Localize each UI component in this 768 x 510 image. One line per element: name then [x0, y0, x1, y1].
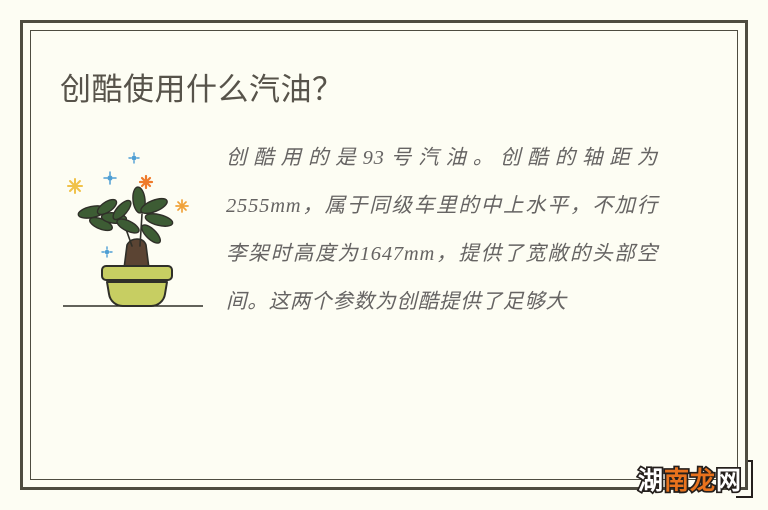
- site-watermark: 湖 南 龙 网: [636, 459, 756, 503]
- watermark-char-1: 湖: [638, 466, 662, 495]
- watermark-char-3: 龙: [690, 466, 715, 495]
- article-card: 创酷使用什么汽油？: [30, 30, 738, 480]
- article-paragraph: 创酷用的是93号汽油。创酷的轴距为2555mm，属于同级车里的中上水平，不加行李…: [226, 134, 658, 326]
- page-title: 创酷使用什么汽油？: [60, 70, 344, 110]
- sparkle-dot-blue-top: [129, 153, 139, 163]
- article-body: 创酷用的是93号汽油。创酷的轴距为2555mm，属于同级车里的中上水平，不加行李…: [30, 134, 738, 394]
- sparkle-dot-blue-small: [104, 172, 116, 184]
- sparkle-dot-blue-low: [102, 247, 112, 257]
- plant-pot: [102, 266, 172, 306]
- potted-plant-illustration: [58, 150, 208, 330]
- watermark-char-4: 网: [716, 466, 740, 495]
- watermark-char-2: 南: [664, 466, 688, 495]
- sparkle-star-orange: [140, 176, 152, 188]
- sparkle-star-yellow: [68, 179, 82, 193]
- sparkle-star-orange-right: [176, 200, 188, 212]
